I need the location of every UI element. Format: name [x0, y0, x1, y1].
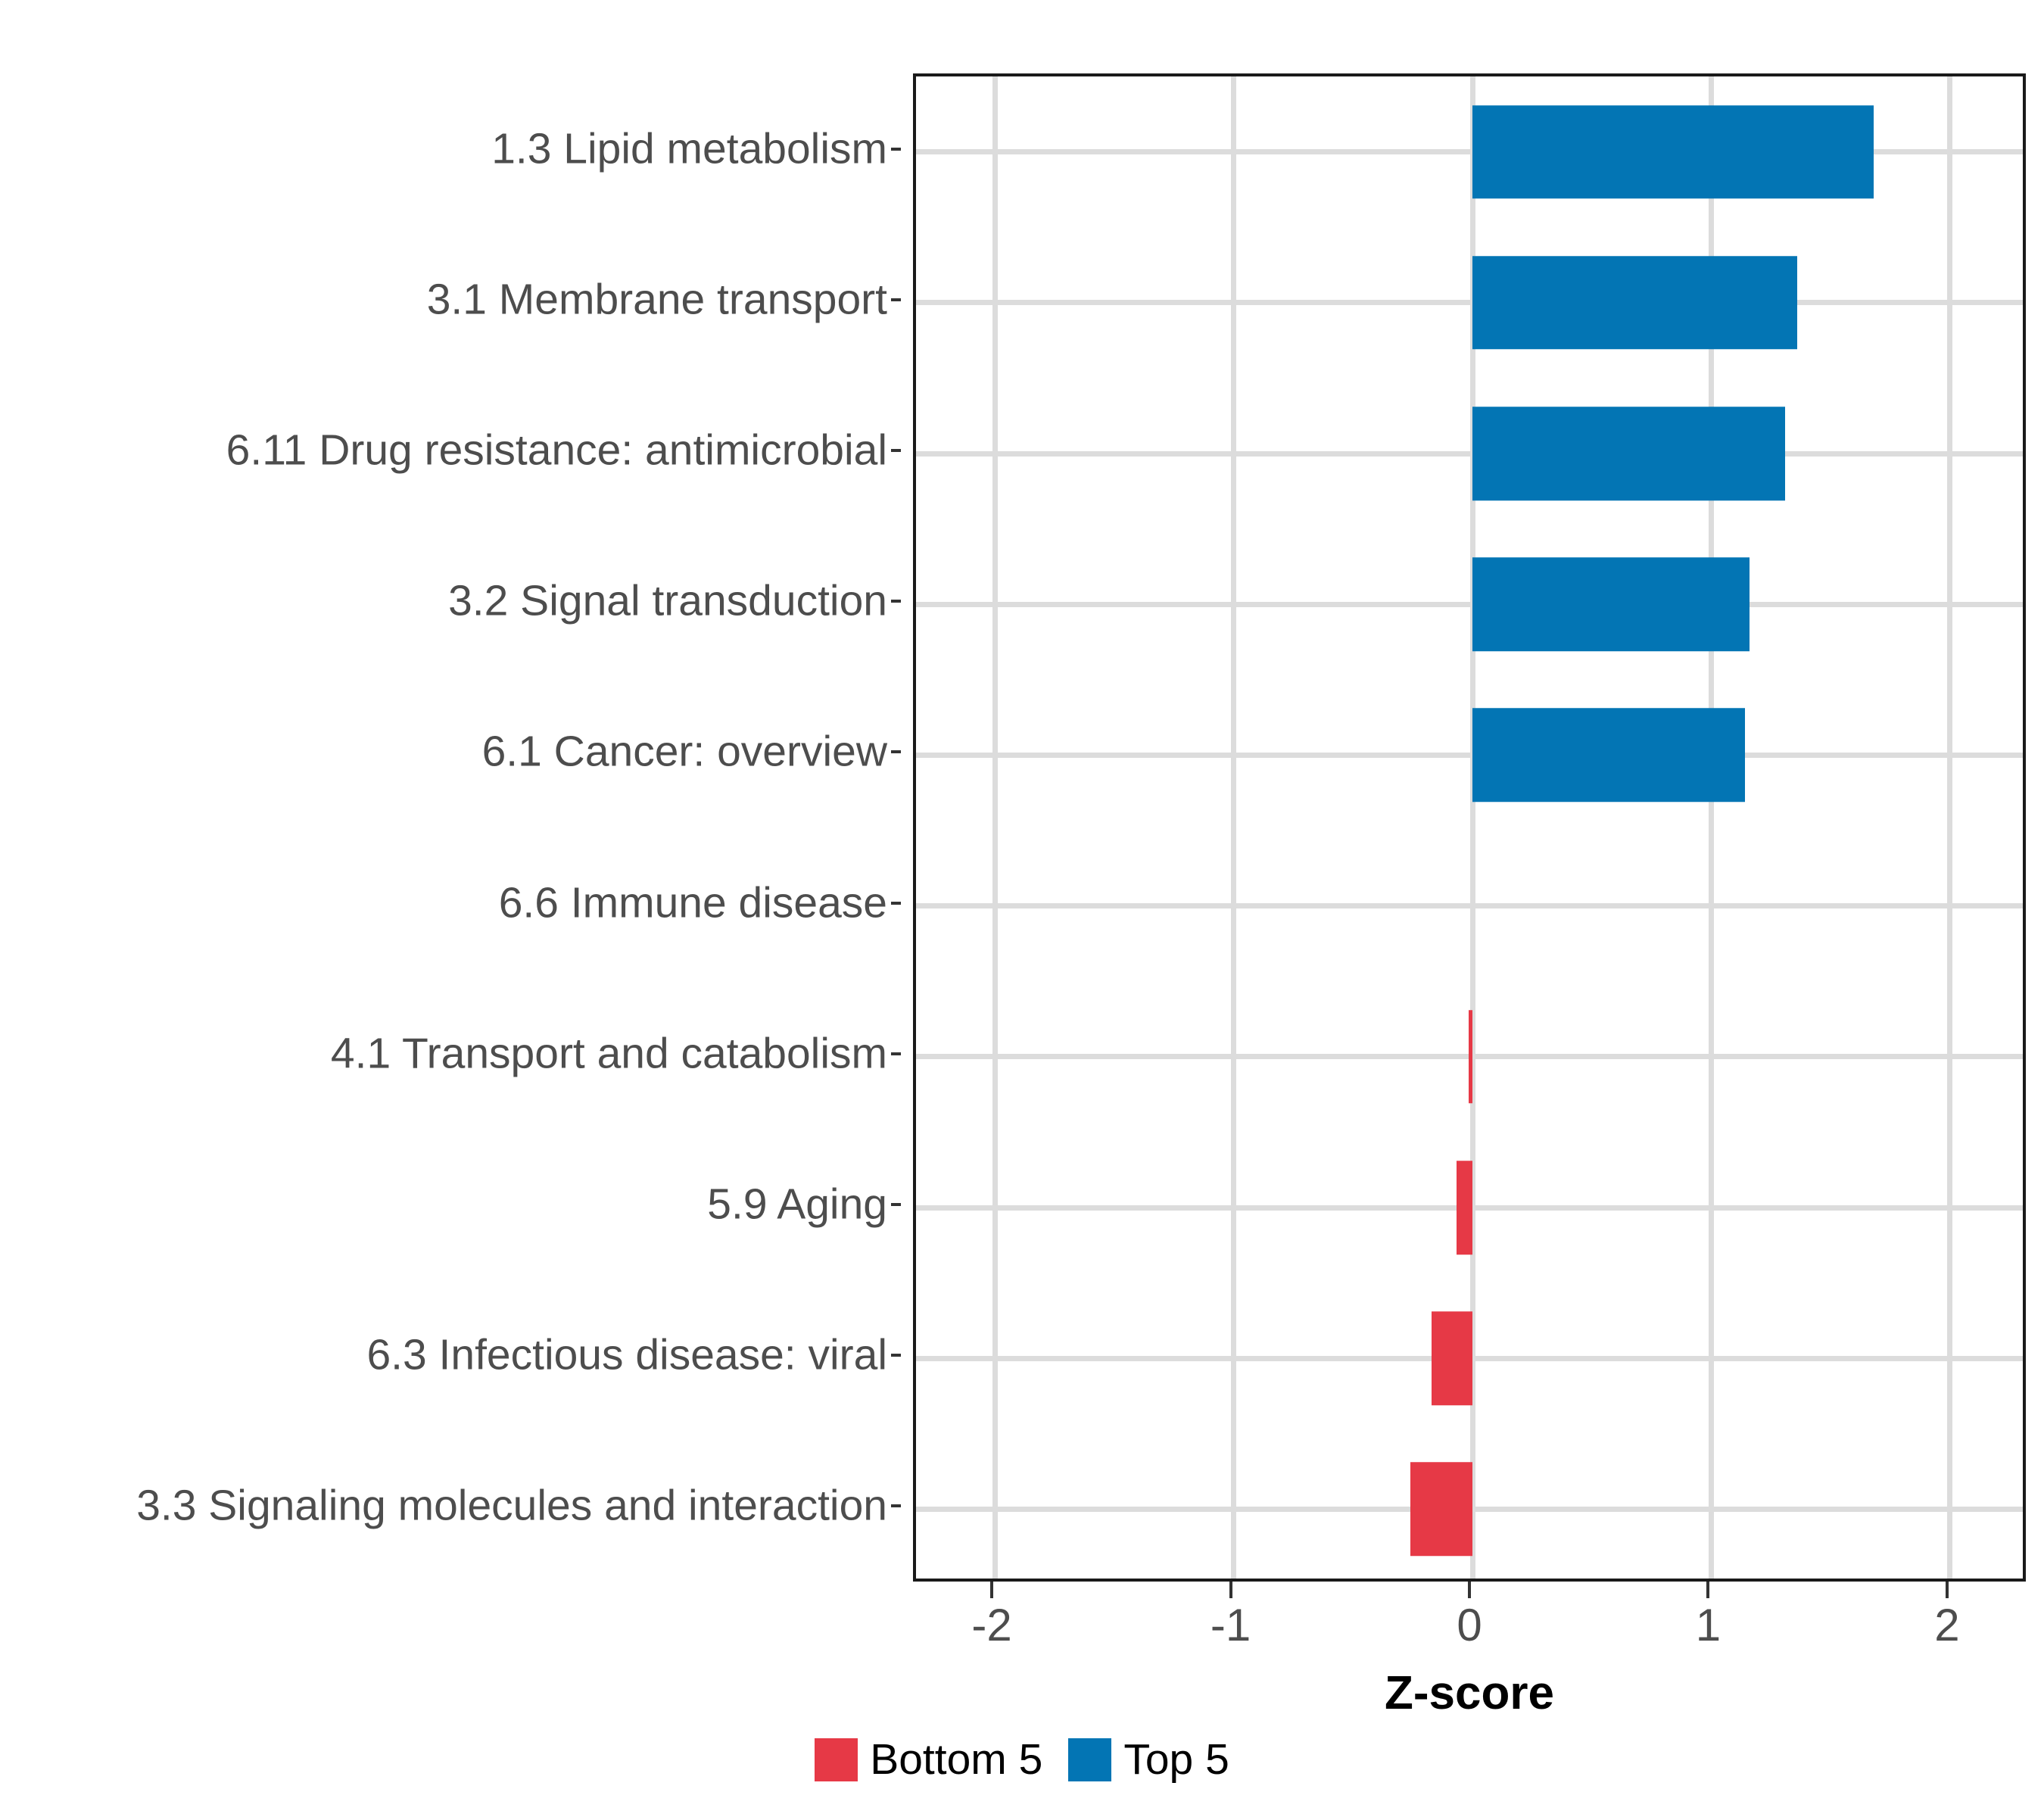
- y-axis-tick-label: 1.3 Lipid metabolism: [491, 127, 887, 170]
- y-axis-tick-mark: [891, 1203, 901, 1206]
- x-axis-tick-label: 2: [1934, 1603, 1959, 1648]
- legend-swatch-icon: [815, 1738, 858, 1781]
- x-axis-title: Z-score: [913, 1670, 2026, 1717]
- y-axis-tick-label: 5.9 Aging: [707, 1183, 887, 1226]
- legend-label: Bottom 5: [870, 1738, 1042, 1781]
- x-axis-tick-mark: [990, 1582, 993, 1598]
- y-axis-tick-mark: [891, 148, 901, 151]
- y-axis-tick-label: 3.2 Signal transduction: [448, 580, 887, 623]
- chart-page: 1.3 Lipid metabolism3.1 Membrane transpo…: [0, 0, 2044, 1817]
- y-gridline: [916, 451, 2023, 457]
- x-axis-tick-mark: [1946, 1582, 1949, 1598]
- y-axis-tick-mark: [891, 449, 901, 452]
- bar[interactable]: [1472, 407, 1785, 500]
- y-axis-tick-label: 6.6 Immune disease: [499, 881, 887, 924]
- y-axis-tick-label: 4.1 Transport and catabolism: [331, 1032, 887, 1075]
- x-axis-tick-mark: [1468, 1582, 1471, 1598]
- bar[interactable]: [1472, 256, 1797, 350]
- y-axis-tick-label: 3.1 Membrane transport: [427, 278, 887, 321]
- y-axis-tick-mark: [891, 1052, 901, 1055]
- legend-item[interactable]: Top 5: [1068, 1738, 1229, 1781]
- bar[interactable]: [1472, 105, 1874, 199]
- bar[interactable]: [1469, 1010, 1472, 1104]
- x-axis-tick-label: -1: [1211, 1603, 1251, 1648]
- y-gridline: [916, 753, 2023, 758]
- y-axis-tick-mark: [891, 298, 901, 301]
- bar[interactable]: [1457, 1161, 1472, 1254]
- y-gridline: [916, 300, 2023, 305]
- x-axis-tick-label: 0: [1457, 1603, 1482, 1648]
- y-axis-tick-label: 3.3 Signaling molecules and interaction: [136, 1485, 887, 1528]
- plot-panel: [913, 73, 2026, 1582]
- y-axis-tick-mark: [891, 600, 901, 603]
- bar[interactable]: [1472, 709, 1745, 803]
- bar[interactable]: [1472, 557, 1750, 651]
- y-axis-tick-label: 6.3 Infectious disease: viral: [366, 1334, 887, 1377]
- y-axis-tick-label: 6.1 Cancer: overview: [482, 731, 887, 774]
- x-axis-tick-label: 1: [1696, 1603, 1721, 1648]
- y-axis-labels: 1.3 Lipid metabolism3.1 Membrane transpo…: [0, 73, 901, 1582]
- bar[interactable]: [1432, 1311, 1472, 1405]
- legend-item[interactable]: Bottom 5: [815, 1738, 1042, 1781]
- legend-label: Top 5: [1123, 1738, 1229, 1781]
- x-axis-tick-mark: [1706, 1582, 1709, 1598]
- plot-area: [916, 76, 2023, 1579]
- y-axis-tick-mark: [891, 1504, 901, 1507]
- bar[interactable]: [1410, 1463, 1472, 1557]
- x-axis-tick-label: -2: [971, 1603, 1011, 1648]
- y-axis-tick-mark: [891, 1354, 901, 1357]
- y-axis-tick-mark: [891, 750, 901, 753]
- y-axis-tick-label: 6.11 Drug resistance: antimicrobial: [226, 429, 887, 472]
- chart-legend: Bottom 5Top 5: [0, 1738, 2044, 1781]
- y-gridline: [916, 903, 2023, 908]
- x-axis-tick-mark: [1229, 1582, 1232, 1598]
- y-gridline: [916, 602, 2023, 607]
- legend-swatch-icon: [1068, 1738, 1111, 1781]
- y-axis-tick-mark: [891, 902, 901, 905]
